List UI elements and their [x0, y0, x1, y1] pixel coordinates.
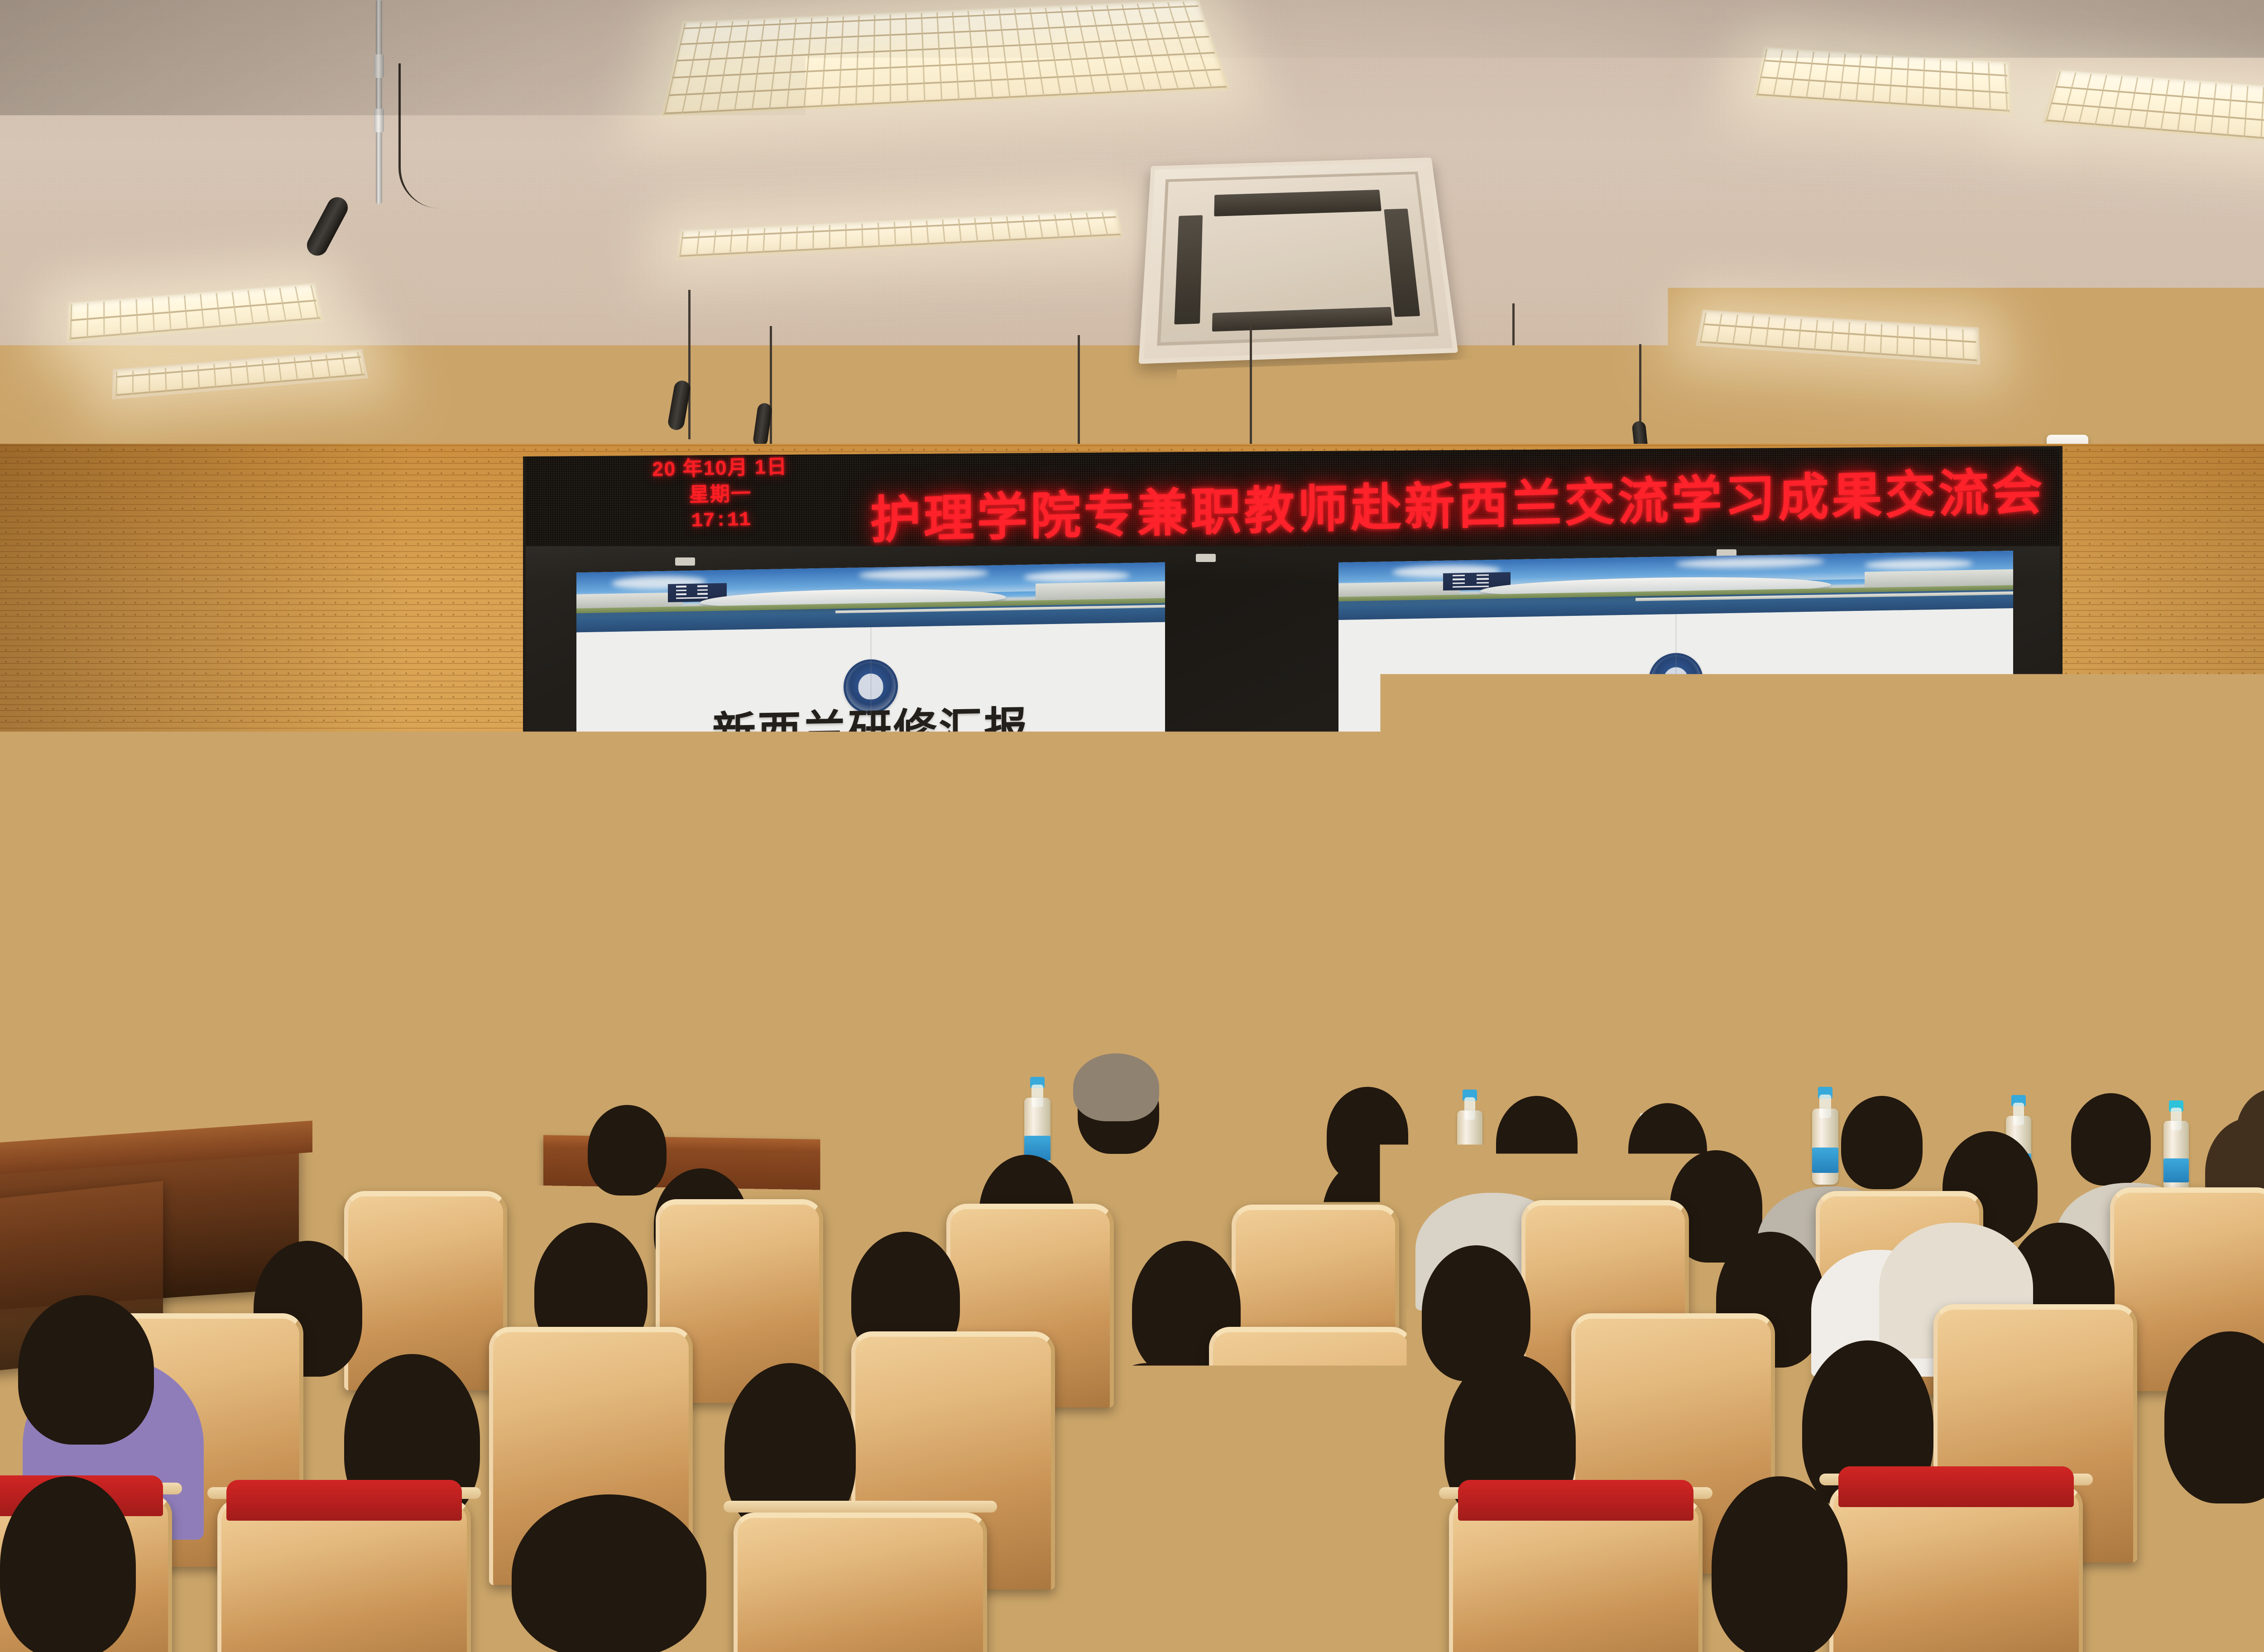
audience-head: [2071, 1093, 2151, 1186]
bouquet-flower: [1031, 955, 1075, 994]
led-weekday: 星期一: [634, 480, 806, 509]
bouquet-flower: [781, 1006, 796, 1021]
auditorium-seat[interactable]: [734, 1513, 987, 1652]
flower-bouquet-icon: [730, 987, 857, 1064]
audience-head: [1073, 1053, 1159, 1121]
air-conditioner-cassette-icon: [1138, 158, 1458, 364]
audience-head: [1712, 1476, 1847, 1652]
video-wall: 20 年10月 1日 星期一 17:11 护理学院专兼职教师赴新西兰交流学习成果…: [523, 446, 2063, 967]
hanging-microphone-icon: [376, 0, 382, 204]
panel-power-indicator: [675, 948, 695, 956]
presenter-glasses-icon: [1024, 854, 1104, 873]
audience-head: [1841, 1096, 1923, 1189]
audience-head: [588, 1105, 667, 1196]
name-card-label: 金贝: [918, 994, 968, 1014]
slide-body: 新西兰研修汇报 福建医科大学附属协和医院 李琳 庄玲丹 黄惜珍: [1338, 608, 2013, 948]
bouquet-flower: [795, 1014, 811, 1030]
led-time: 17:11: [635, 506, 807, 536]
water-bottle-icon[interactable]: [1457, 1090, 1482, 1185]
pen-holder: [900, 997, 923, 1021]
audience-head: [18, 1295, 154, 1445]
panel-power-indicator: [675, 557, 695, 566]
ceiling-drop-cable: [770, 326, 772, 448]
lecture-hall-photo: 20 年10月 1日 星期一 17:11 护理学院专兼职教师赴新西兰交流学习成果…: [0, 0, 2264, 1652]
panel-seam-vertical: [1676, 614, 1676, 942]
wall-shadow-left: [0, 444, 408, 1241]
audience-head: [1496, 1096, 1578, 1190]
photo-cityscape-right: [1036, 581, 1165, 600]
podium-speaker-grille: [1182, 1049, 1225, 1138]
ceiling-drop-cable: [1250, 326, 1252, 453]
water-bottle-icon[interactable]: [1812, 1087, 1838, 1185]
panel-power-indicator: [1721, 941, 1741, 949]
bouquet-flower: [1025, 1005, 1072, 1049]
podium-equipment-box: [1175, 1010, 1229, 1028]
panel-seam-vertical: [871, 627, 871, 934]
photo-cityscape-left: [1338, 581, 1460, 597]
display-panel-right[interactable]: 新西兰研修汇报 福建医科大学附属协和医院 李琳 庄玲丹 黄惜珍: [1338, 551, 2013, 948]
mic-cable: [398, 63, 480, 208]
bouquet-flower: [1070, 983, 1112, 1021]
slide-header-photo: [576, 562, 1165, 633]
ceiling-drop-cable: [688, 290, 691, 439]
ceiling-drop-cable: [1078, 335, 1080, 448]
presenter-fringe: [1003, 802, 1112, 860]
audience-head: [0, 1476, 136, 1652]
podium-right-wing: [1170, 1032, 1238, 1155]
seat-cushion[interactable]: [1087, 1489, 1322, 1530]
flower-vase: [768, 1032, 806, 1061]
name-card: 金贝: [918, 987, 968, 1021]
led-datetime-block: 20 年10月 1日 星期一 17:11: [633, 453, 807, 536]
water-bottle-icon[interactable]: [2163, 1100, 2189, 1194]
presentation-slide: 新西兰研修汇报 福建医科大学附属协和医院 李琳 庄玲丹 黄惜珍: [1338, 551, 2013, 948]
photo-cityscape-right: [1865, 569, 2013, 588]
bouquet-flower: [772, 1019, 789, 1035]
panel-power-indicator: [1196, 944, 1216, 952]
bouquet-leaf: [809, 1010, 841, 1034]
seat-cushion[interactable]: [1458, 1480, 1693, 1521]
auditorium-seat[interactable]: [1449, 1499, 1703, 1652]
equipment-grille: [929, 1043, 991, 1147]
led-date: 20 年10月 1日: [633, 453, 806, 483]
seat-cushion[interactable]: [226, 1480, 462, 1521]
audience-head: [801, 1085, 881, 1178]
ceiling: [0, 0, 2264, 489]
photo-cityscape-left: [576, 592, 682, 609]
auditorium-seat[interactable]: [217, 1499, 471, 1652]
auditorium-seat[interactable]: [1829, 1485, 2083, 1652]
bouquet-leaf: [731, 1011, 762, 1033]
audience-head: [512, 1494, 706, 1652]
audience-head: [2056, 1454, 2237, 1652]
panel-power-indicator: [1196, 554, 1216, 562]
led-ticker-band: 20 年10月 1日 星期一 17:11 护理学院专兼职教师赴新西兰交流学习成果…: [526, 449, 2060, 546]
seat-cushion[interactable]: [1838, 1466, 2074, 1507]
stage-right-ledge: [1232, 1049, 1422, 1085]
